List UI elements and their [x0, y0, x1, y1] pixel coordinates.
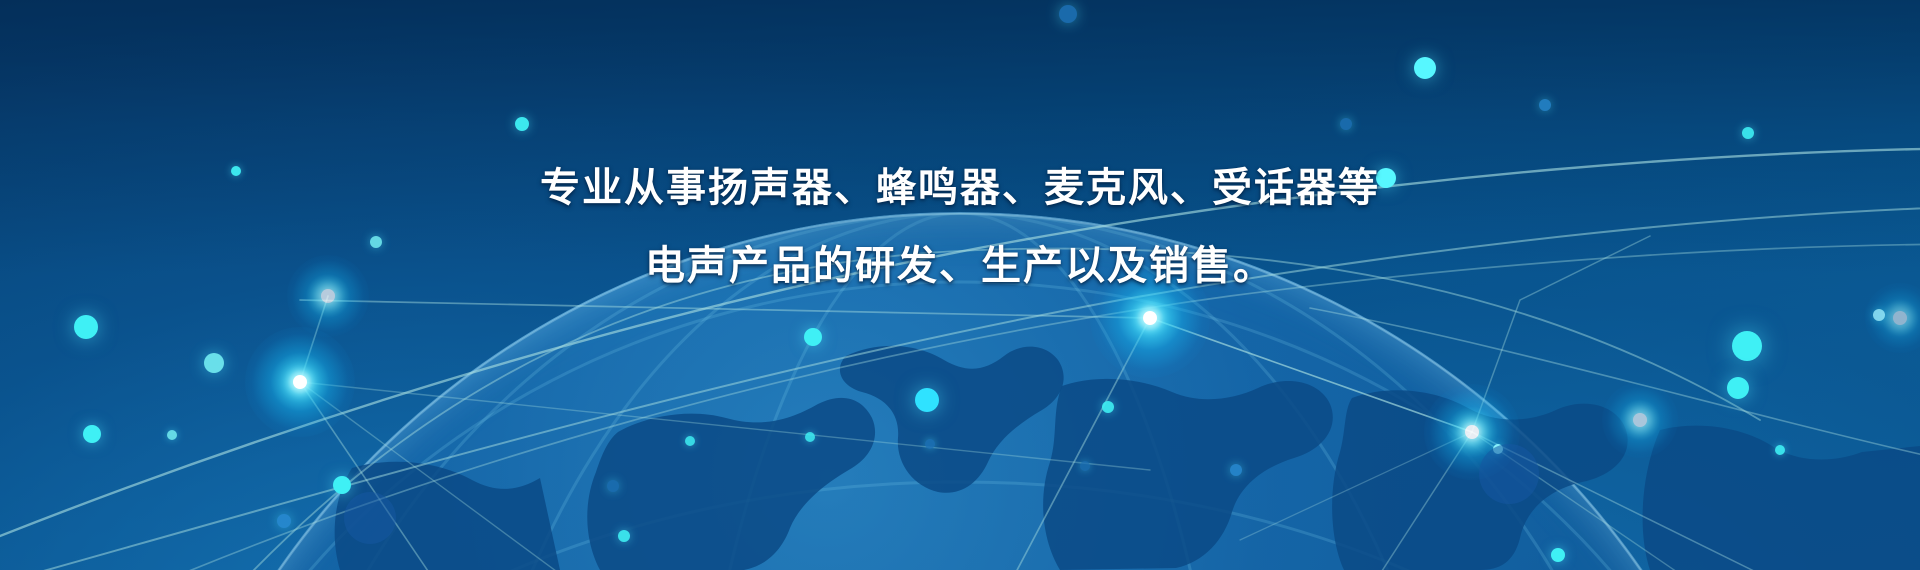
particle-dot: [333, 476, 351, 494]
particle-dot: [1539, 99, 1551, 111]
particle-dot: [1414, 57, 1436, 79]
particle-dot: [167, 430, 177, 440]
particle-dot: [204, 353, 224, 373]
hero-banner: 专业从事扬声器、蜂鸣器、麦克风、受话器等 电声产品的研发、生产以及销售。: [0, 0, 1920, 570]
particle-dot: [925, 439, 935, 449]
particle-dot: [1551, 548, 1565, 562]
particle-dot: [1873, 309, 1885, 321]
particle-dot: [1102, 401, 1114, 413]
particle-dot: [1340, 118, 1352, 130]
particle-dot: [1742, 127, 1754, 139]
particle-dot: [805, 432, 815, 442]
particle-dot: [804, 328, 822, 346]
particle-dot: [344, 492, 396, 544]
particle-dot: [685, 436, 695, 446]
headline-line-1: 专业从事扬声器、蜂鸣器、麦克风、受话器等: [0, 168, 1920, 208]
particle-dot: [1080, 461, 1090, 471]
particle-dot: [1479, 444, 1539, 504]
particle-dot: [1230, 464, 1242, 476]
headline-block: 专业从事扬声器、蜂鸣器、麦克风、受话器等 电声产品的研发、生产以及销售。: [0, 168, 1920, 286]
particle-dot: [915, 388, 939, 412]
particle-dot: [515, 117, 529, 131]
headline-line-2: 电声产品的研发、生产以及销售。: [0, 246, 1920, 286]
particle-dot: [1727, 377, 1749, 399]
particle-dot: [277, 514, 291, 528]
particle-dot: [618, 530, 630, 542]
particle-dot: [74, 315, 98, 339]
particle-dot: [607, 480, 619, 492]
particle-dot: [83, 425, 101, 443]
particle-dot: [1732, 331, 1762, 361]
particle-dot: [1775, 445, 1785, 455]
particle-dot: [1059, 5, 1077, 23]
